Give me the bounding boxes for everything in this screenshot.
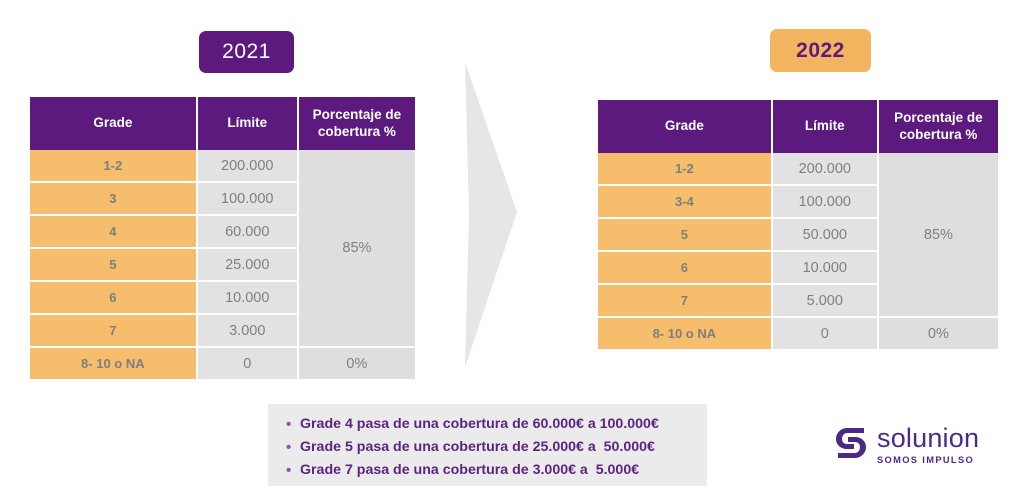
table-2022-header: Grade Límite Porcentaje de cobertura % [598, 100, 998, 153]
grade-value: 1-2 [30, 150, 198, 183]
header-porcentaje: Porcentaje de cobertura % [879, 100, 998, 153]
table-2022-body: 1-2 200.000 85% 3-4 100.000 5 50.000 6 1… [598, 153, 998, 349]
table-row: 1-2 200.000 85% [598, 153, 998, 186]
note-item: • Grade 4 pasa de una cobertura de 60.00… [286, 413, 707, 436]
limit-value: 3.000 [198, 315, 299, 348]
grade-value: 7 [30, 315, 198, 348]
limit-value: 60.000 [198, 216, 299, 249]
year-badge-2021-label: 2021 [222, 40, 271, 64]
table-row: 8- 10 o NA 0 0% [598, 318, 998, 349]
year-badge-2021: 2021 [199, 31, 294, 73]
grade-value: 5 [30, 249, 198, 282]
header-limite: Límite [198, 97, 299, 150]
logo-wordmark: solunion [877, 424, 979, 452]
limit-value: 100.000 [773, 186, 879, 219]
brand-logo: solunion SOMOS IMPULSO [834, 424, 999, 476]
bullet-icon: • [286, 413, 300, 436]
header-grade: Grade [30, 97, 198, 150]
note-text: Grade 4 pasa de una cobertura de 60.000€… [300, 413, 659, 436]
limit-value: 0 [198, 348, 299, 379]
limit-value: 50.000 [773, 219, 879, 252]
limit-value: 200.000 [198, 150, 299, 183]
bullet-icon: • [286, 459, 300, 482]
table-row: 8- 10 o NA 0 0% [30, 348, 415, 379]
coverage-value-last: 0% [299, 348, 415, 379]
grade-value: 5 [598, 219, 773, 252]
limit-value: 100.000 [198, 183, 299, 216]
transition-arrow-icon [455, 62, 520, 367]
year-badge-2022-label: 2022 [796, 39, 845, 63]
grade-value: 1-2 [598, 153, 773, 186]
limit-value: 10.000 [773, 252, 879, 285]
grade-value: 6 [598, 252, 773, 285]
note-item: • Grade 7 pasa de una cobertura de 3.000… [286, 459, 707, 482]
header-grade: Grade [598, 100, 773, 153]
table-2021-body: 1-2 200.000 85% 3 100.000 4 60.000 5 25.… [30, 150, 415, 379]
grade-value: 8- 10 o NA [598, 318, 773, 349]
header-porcentaje: Porcentaje de cobertura % [299, 97, 415, 150]
coverage-value-last: 0% [879, 318, 998, 349]
table-header-row: Grade Límite Porcentaje de cobertura % [598, 100, 998, 153]
limit-value: 10.000 [198, 282, 299, 315]
coverage-value-main: 85% [879, 153, 998, 318]
grade-value: 3 [30, 183, 198, 216]
grade-value: 6 [30, 282, 198, 315]
logo-text-wrap: solunion SOMOS IMPULSO [877, 424, 979, 466]
coverage-value-main: 85% [299, 150, 415, 348]
solunion-logomark-icon [834, 426, 868, 460]
note-text: Grade 5 pasa de una cobertura de 25.000€… [300, 436, 655, 459]
grade-value: 7 [598, 285, 773, 318]
table-row: 1-2 200.000 85% [30, 150, 415, 183]
grade-value: 8- 10 o NA [30, 348, 198, 379]
grade-value: 3-4 [598, 186, 773, 219]
header-limite: Límite [773, 100, 879, 153]
table-header-row: Grade Límite Porcentaje de cobertura % [30, 97, 415, 150]
note-text: Grade 7 pasa de una cobertura de 3.000€ … [300, 459, 639, 482]
coverage-table-2022: Grade Límite Porcentaje de cobertura % 1… [598, 100, 998, 349]
limit-value: 200.000 [773, 153, 879, 186]
limit-value: 5.000 [773, 285, 879, 318]
table-2021-header: Grade Límite Porcentaje de cobertura % [30, 97, 415, 150]
note-item: • Grade 5 pasa de una cobertura de 25.00… [286, 436, 707, 459]
coverage-table-2021: Grade Límite Porcentaje de cobertura % 1… [30, 97, 415, 379]
year-badge-2022: 2022 [770, 29, 871, 72]
bullet-icon: • [286, 436, 300, 459]
limit-value: 0 [773, 318, 879, 349]
limit-value: 25.000 [198, 249, 299, 282]
changes-notes-box: • Grade 4 pasa de una cobertura de 60.00… [268, 404, 707, 486]
logo-tagline: SOMOS IMPULSO [877, 454, 979, 466]
grade-value: 4 [30, 216, 198, 249]
